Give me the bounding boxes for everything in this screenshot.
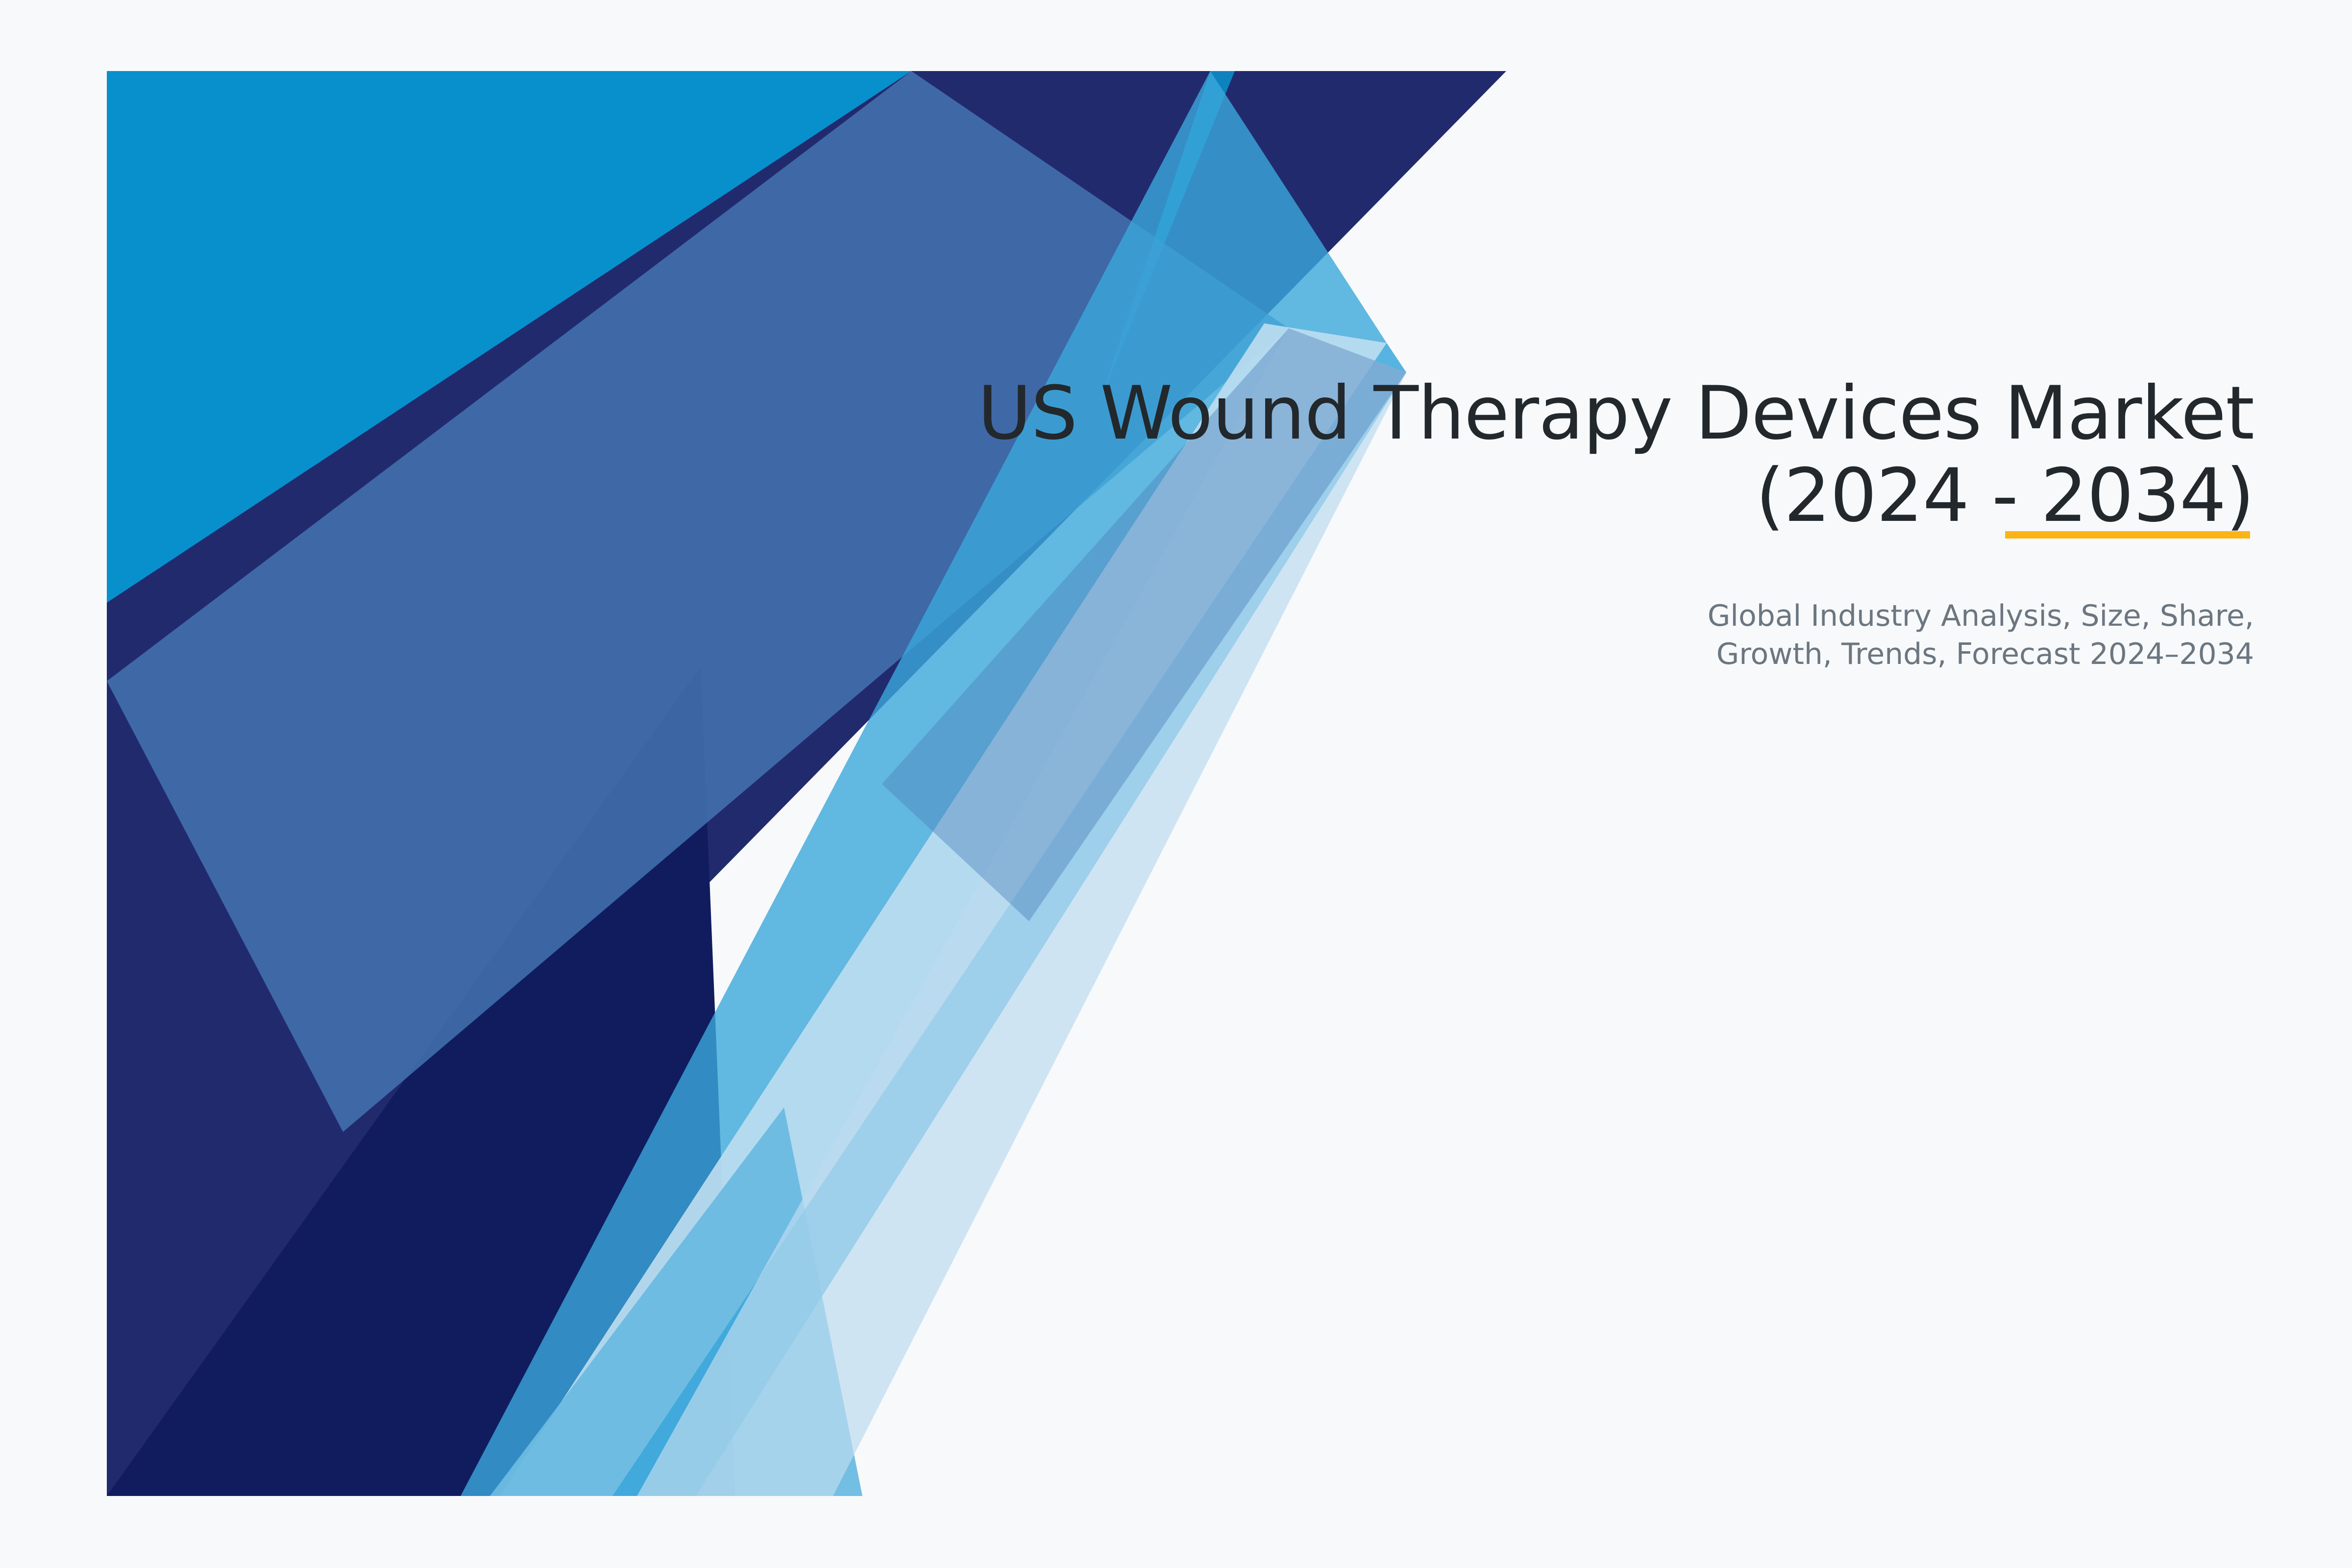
cover-page: US Wound Therapy Devices Market(2024 - 2… — [0, 0, 2352, 1568]
cover-text-block: US Wound Therapy Devices Market(2024 - 2… — [833, 372, 2254, 673]
shape-cyan-top-triangle — [107, 71, 911, 603]
shape-deep-navy-blade — [107, 666, 701, 1496]
page-title-line-2: (2024 - 2034) — [1756, 453, 2254, 539]
page-subtitle-line-1: Global Industry Analysis, Size, Share, — [1708, 599, 2254, 633]
shape-sky-ribbon — [461, 71, 1387, 1496]
title-accent-underline — [2005, 531, 2250, 539]
artwork-left-mask — [0, 0, 107, 1568]
artwork-bottom-mask — [0, 1496, 2352, 1568]
page-subtitle: Global Industry Analysis, Size, Share,Gr… — [833, 597, 2254, 673]
page-subtitle-line-2: Growth, Trends, Forecast 2024–2034 — [1716, 637, 2254, 671]
page-title-line-1: US Wound Therapy Devices Market — [978, 371, 2254, 456]
shape-sky-highlight — [490, 1107, 862, 1496]
shape-navy-sweep — [107, 71, 1506, 1496]
shape-cyan-spike — [1098, 71, 1235, 407]
shape-deep-navy-triangle — [107, 666, 735, 1496]
abstract-polygon-artwork — [0, 0, 2352, 1568]
page-title: US Wound Therapy Devices Market(2024 - 2… — [833, 372, 2254, 537]
artwork-top-mask — [0, 0, 2352, 71]
shape-cyan-block — [107, 71, 921, 681]
